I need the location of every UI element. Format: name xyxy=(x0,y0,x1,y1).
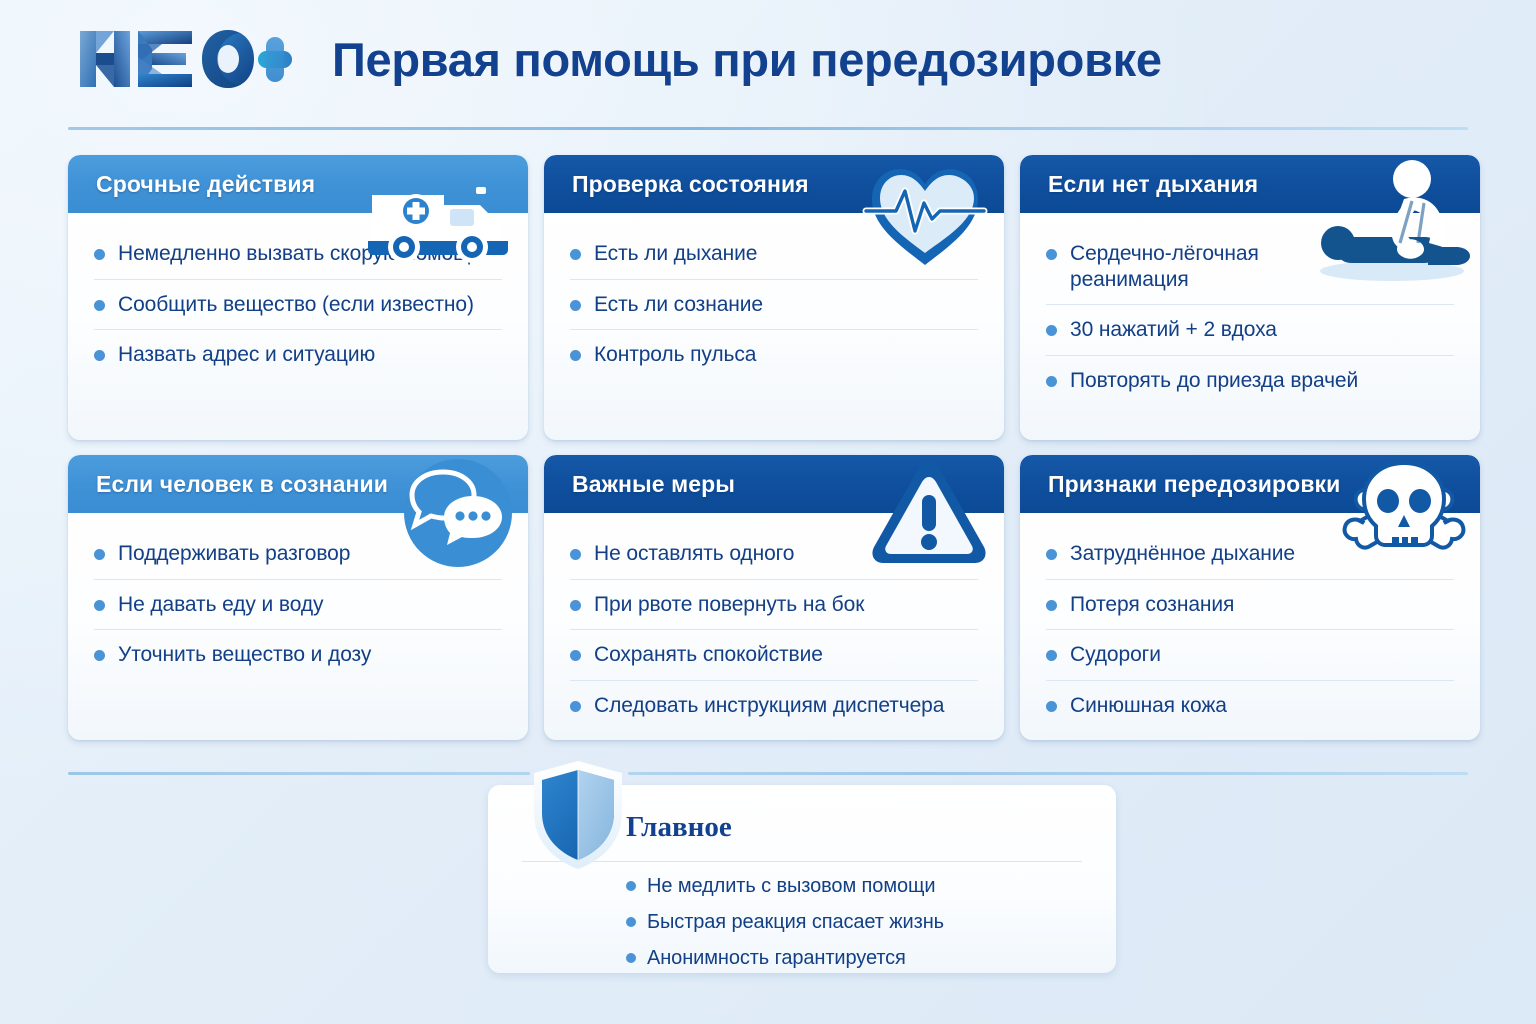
card-title: Важные меры xyxy=(572,471,735,498)
list-item: Затруднённое дыхание xyxy=(1046,529,1454,580)
bullet-icon xyxy=(626,953,636,963)
card-header: Если нет дыхания xyxy=(1020,155,1480,213)
list-item-label: Не оставлять одного xyxy=(594,541,794,567)
bullet-icon xyxy=(94,650,105,661)
card-title: Проверка состояния xyxy=(572,171,809,198)
list-item-label: Судороги xyxy=(1070,642,1161,668)
bullet-icon xyxy=(570,650,581,661)
list-item: Сердечно-лёгочная реанимация xyxy=(1046,229,1454,305)
list-item: Не давать еду и воду xyxy=(94,580,502,631)
list-item: Не медлить с вызовом помощи xyxy=(626,868,1082,904)
bullet-icon xyxy=(626,917,636,927)
list-item: Судороги xyxy=(1046,630,1454,681)
list-item: Повторять до приезда врачей xyxy=(1046,356,1454,406)
infographic-page: Первая помощь при передозировке Срочные … xyxy=(0,0,1536,1024)
card-header: Если человек в сознании xyxy=(68,455,528,513)
list-item: Уточнить вещество и дозу xyxy=(94,630,502,680)
bullet-icon xyxy=(570,350,581,361)
card-no-breathing[interactable]: Если нет дыхания Сердечно-лёгочная реани… xyxy=(1020,155,1480,440)
list-item-label: Назвать адрес и ситуацию xyxy=(118,342,375,368)
list-item-label: Контроль пульса xyxy=(594,342,756,368)
list-item-label: Анонимность гарантируется xyxy=(647,946,906,970)
list-item: При рвоте повернуть на бок xyxy=(570,580,978,631)
list-item: Потеря сознания xyxy=(1046,580,1454,631)
list-item: Синюшная кожа xyxy=(1046,681,1454,731)
bullet-icon xyxy=(570,300,581,311)
page-header: Первая помощь при передозировке xyxy=(0,0,1536,118)
summary-card[interactable]: Главное Не медлить с вызовом помощи Быст… xyxy=(488,785,1116,973)
list-item-label: Сердечно-лёгочная реанимация xyxy=(1070,241,1325,292)
list-item: Сохранять спокойствие xyxy=(570,630,978,681)
card-important-measures[interactable]: Важные меры Не оставлять одного При рвот… xyxy=(544,455,1004,740)
list-item: Поддерживать разговор xyxy=(94,529,502,580)
list-item-label: Сохранять спокойствие xyxy=(594,642,823,668)
list-item: Есть ли сознание xyxy=(570,280,978,331)
list-item-label: Уточнить вещество и дозу xyxy=(118,642,371,668)
card-header: Важные меры xyxy=(544,455,1004,513)
list-item-label: Не медлить с вызовом помощи xyxy=(647,874,935,898)
list-item: Анонимность гарантируется xyxy=(626,940,1082,976)
card-body: Поддерживать разговор Не давать еду и во… xyxy=(68,513,528,690)
page-title: Первая помощь при передозировке xyxy=(332,36,1162,83)
list-item-label: Повторять до приезда врачей xyxy=(1070,368,1358,394)
list-item-label: Синюшная кожа xyxy=(1070,693,1227,719)
card-condition-check[interactable]: Проверка состояния Есть ли дыхание Есть … xyxy=(544,155,1004,440)
bullet-icon xyxy=(1046,325,1057,336)
list-item-label: Следовать инструкциям диспетчера xyxy=(594,693,944,719)
list-item-label: Потеря сознания xyxy=(1070,592,1234,618)
card-title: Если нет дыхания xyxy=(1048,171,1258,198)
bullet-icon xyxy=(94,350,105,361)
bullet-icon xyxy=(94,549,105,560)
list-item: Контроль пульса xyxy=(570,330,978,380)
card-header: Проверка состояния xyxy=(544,155,1004,213)
card-header: Признаки передозировки xyxy=(1020,455,1480,513)
bullet-icon xyxy=(1046,549,1057,560)
list-item: Немедленно вызвать скорую помощь xyxy=(94,229,502,280)
bullet-icon xyxy=(626,881,636,891)
bullet-icon xyxy=(570,701,581,712)
list-item: 30 нажатий + 2 вдоха xyxy=(1046,305,1454,356)
card-conscious-person[interactable]: Если человек в сознании Поддерживать раз… xyxy=(68,455,528,740)
shield-icon xyxy=(530,759,626,871)
bullet-icon xyxy=(1046,376,1057,387)
list-item-label: При рвоте повернуть на бок xyxy=(594,592,864,618)
card-title: Срочные действия xyxy=(96,171,315,198)
bullet-icon xyxy=(94,600,105,611)
list-item-label: Поддерживать разговор xyxy=(118,541,350,567)
list-item: Есть ли дыхание xyxy=(570,229,978,280)
card-body: Затруднённое дыхание Потеря сознания Суд… xyxy=(1020,513,1480,740)
bullet-icon xyxy=(570,600,581,611)
card-header: Срочные действия xyxy=(68,155,528,213)
list-item: Сообщить вещество (если известно) xyxy=(94,280,502,331)
list-item-label: Не давать еду и воду xyxy=(118,592,323,618)
card-body: Не оставлять одного При рвоте повернуть … xyxy=(544,513,1004,740)
card-title: Если человек в сознании xyxy=(96,471,388,498)
card-grid: Срочные действия xyxy=(68,155,1468,740)
card-body: Сердечно-лёгочная реанимация 30 нажатий … xyxy=(1020,213,1480,415)
bullet-icon xyxy=(1046,249,1057,260)
list-item-label: Есть ли сознание xyxy=(594,292,763,318)
list-item-label: Быстрая реакция спасает жизнь xyxy=(647,910,944,934)
card-title: Признаки передозировки xyxy=(1048,471,1340,498)
card-overdose-signs[interactable]: Признаки передозировки Затруднённое дых xyxy=(1020,455,1480,740)
bullet-icon xyxy=(1046,650,1057,661)
card-urgent-actions[interactable]: Срочные действия xyxy=(68,155,528,440)
list-item: Быстрая реакция спасает жизнь xyxy=(626,904,1082,940)
bullet-icon xyxy=(1046,600,1057,611)
card-body: Немедленно вызвать скорую помощь Сообщит… xyxy=(68,213,528,390)
bullet-icon xyxy=(570,249,581,260)
neo-plus-logo xyxy=(74,23,294,95)
list-item: Назвать адрес и ситуацию xyxy=(94,330,502,380)
footer-divider-right xyxy=(628,772,1468,775)
list-item-label: Затруднённое дыхание xyxy=(1070,541,1295,567)
list-item-label: 30 нажатий + 2 вдоха xyxy=(1070,317,1277,343)
summary-list: Не медлить с вызовом помощи Быстрая реак… xyxy=(522,868,1082,976)
bullet-icon xyxy=(570,549,581,560)
list-item-label: Сообщить вещество (если известно) xyxy=(118,292,474,318)
bullet-icon xyxy=(94,249,105,260)
card-body: Есть ли дыхание Есть ли сознание Контрол… xyxy=(544,213,1004,390)
list-item: Не оставлять одного xyxy=(570,529,978,580)
list-item: Следовать инструкциям диспетчера xyxy=(570,681,978,731)
summary-title: Главное xyxy=(626,813,732,842)
list-item-label: Немедленно вызвать скорую помощь xyxy=(118,241,481,267)
list-item-label: Есть ли дыхание xyxy=(594,241,757,267)
header-divider xyxy=(68,127,1468,130)
bullet-icon xyxy=(94,300,105,311)
footer-divider-left xyxy=(68,772,530,775)
bullet-icon xyxy=(1046,701,1057,712)
